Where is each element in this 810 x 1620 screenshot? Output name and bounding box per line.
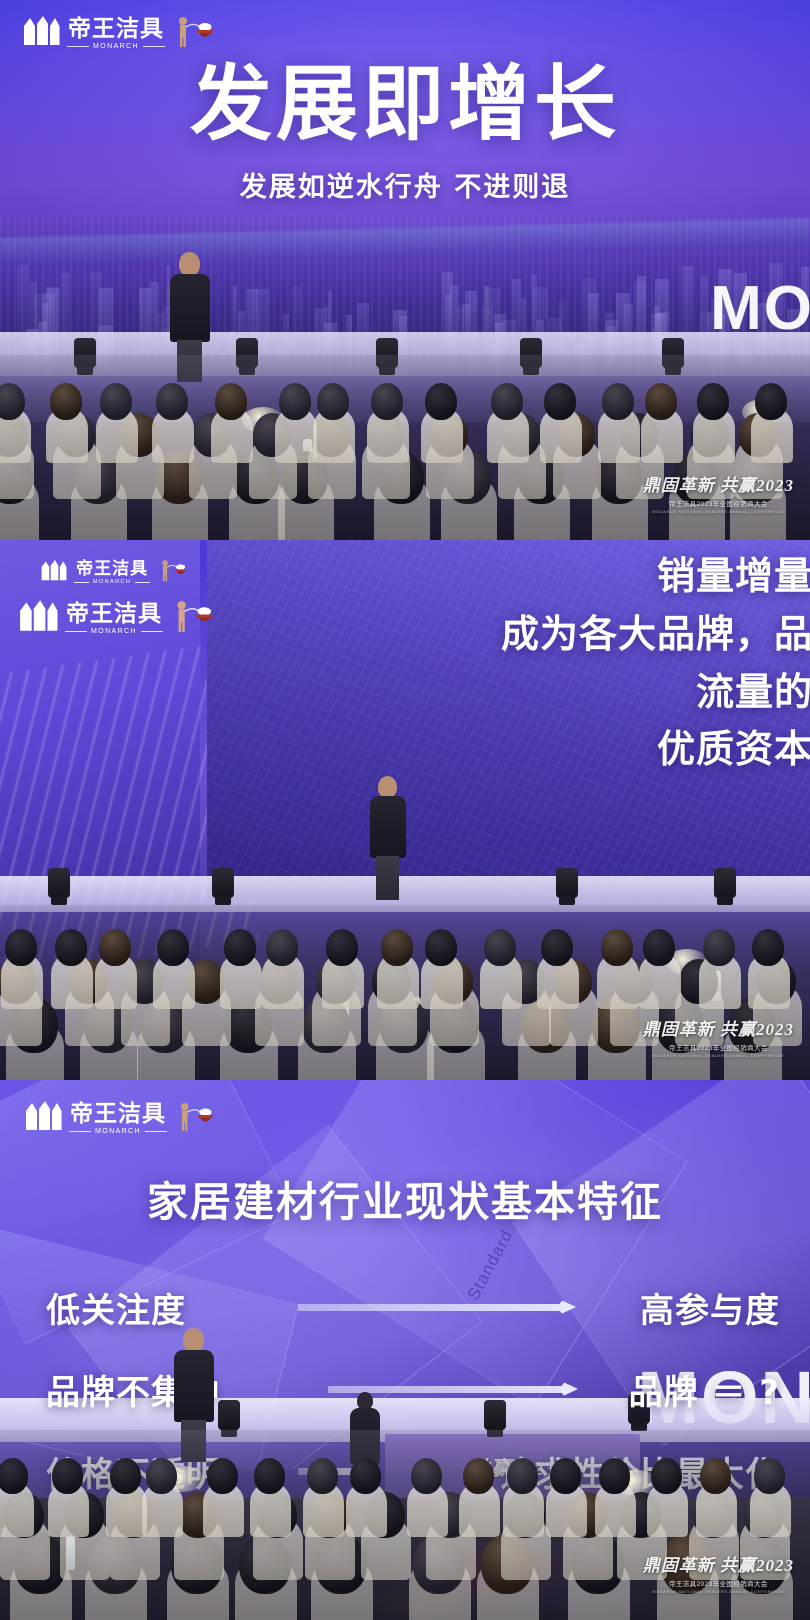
arrow-right-icon (298, 1382, 578, 1396)
arrow-head (561, 1381, 578, 1397)
audience-member (156, 383, 188, 420)
brand-en-row: MONARCH (65, 628, 163, 635)
brand-logo-secondary: 帝王洁具 MONARCH (40, 558, 190, 587)
speaker-figure (368, 776, 408, 900)
panel-keynote-sales-volume-growth: 销量增量的 成为各大品牌，品牌 流量的核 优质资本财 帝王洁具 MONARCH (0, 540, 810, 1080)
brand-name-cn: 帝王洁具 (76, 560, 148, 577)
audience-member (146, 1458, 177, 1494)
stage-light (212, 868, 234, 898)
divider-right (145, 1131, 167, 1132)
audience-member (279, 383, 311, 420)
audience-member (0, 1458, 28, 1494)
audience-member (50, 383, 82, 420)
audience-member (317, 383, 349, 420)
comparison-row: 低关注度 高参与度 (46, 1266, 780, 1348)
divider-left (65, 631, 87, 632)
slide-line: 优质资本财 (501, 721, 810, 779)
audience-member (754, 1458, 785, 1494)
brand-name-en: MONARCH (93, 43, 139, 50)
audience-member (484, 929, 516, 966)
row-to-label: 品牌 ＝ ? (592, 1365, 780, 1414)
arrow-shaft (298, 1304, 560, 1311)
divider-right (135, 582, 150, 583)
brand-en-row: MONARCH (74, 580, 150, 586)
brand-logo: 帝王洁具 MONARCH (24, 1100, 218, 1137)
divider-right (143, 46, 165, 47)
audience-member (645, 383, 677, 420)
slide-subtitle: 发展如逆水行舟 不进则退 (0, 165, 810, 204)
row-to-label: 高参与度 (592, 1283, 780, 1332)
audience-member (411, 1458, 442, 1494)
speaker-legs (376, 856, 399, 900)
photo-collage: 发展即增长 发展如逆水行舟 不进则退 帝王洁具 MONARCH (0, 0, 810, 1620)
audience-member (371, 383, 403, 420)
slide-copy-block: 销量增量的 成为各大品牌，品牌 流量的核 优质资本财 (501, 548, 810, 779)
audience-member (507, 1458, 538, 1494)
audience-member (52, 1458, 83, 1494)
audience-member (599, 1458, 630, 1494)
audience-rows (0, 1430, 810, 1620)
slide-title: 家居建材行业现状基本特征 (0, 1168, 810, 1228)
child-and-toilet-illustration-icon (172, 14, 218, 53)
audience-member (254, 1458, 285, 1494)
audience-member (425, 383, 457, 420)
panel-keynote-industry-characteristics: Standard 帝王洁具 MONARCH (0, 1080, 810, 1620)
audience-member (110, 1458, 141, 1494)
audience-member (224, 929, 256, 966)
audience-member (55, 929, 87, 966)
slide-headline-block: 发展即增长 发展如逆水行舟 不进则退 (0, 62, 810, 204)
audience-member (307, 1458, 338, 1494)
speaker-torso (174, 1350, 214, 1422)
audience-member (491, 383, 523, 420)
audience-member (550, 1458, 581, 1494)
child-and-toilet-illustration-icon (170, 598, 218, 638)
brand-name-en: MONARCH (95, 1128, 141, 1135)
speaker-head (183, 1328, 204, 1352)
audience-member (651, 1458, 682, 1494)
speaker-head (179, 252, 200, 276)
comparison-row: 品牌不集中 品牌 ＝ ? (46, 1348, 780, 1430)
arrow-head (559, 1299, 576, 1315)
audience-member (602, 383, 634, 420)
slide-line: 流量的核 (501, 664, 810, 722)
divider-right (141, 631, 163, 632)
child-and-toilet-illustration-icon (157, 558, 190, 587)
brand-en-row: MONARCH (69, 1128, 167, 1135)
audience-member (350, 1458, 381, 1494)
brand-name-cn: 帝王洁具 (68, 17, 164, 40)
row-from-label: 品牌不集中 (46, 1365, 284, 1414)
brand-text: 帝王洁具 MONARCH (69, 1102, 167, 1135)
speaker-head (378, 776, 397, 798)
brand-text: 帝王洁具 MONARCH (65, 602, 163, 635)
audience-member (100, 383, 132, 420)
audience-member (601, 929, 633, 966)
audience-member (697, 383, 729, 420)
audience-member (700, 1458, 731, 1494)
brand-text: 帝王洁具 MONARCH (67, 17, 165, 50)
stage-light (48, 868, 70, 898)
brand-name-en: MONARCH (91, 628, 137, 635)
slide-title: 发展即增长 (0, 62, 810, 147)
stage-letters: MO (710, 273, 810, 344)
audience-member (463, 1458, 494, 1494)
monarch-crown-icon (40, 560, 67, 586)
audience-member (541, 929, 573, 966)
slide-line: 成为各大品牌，品牌 (501, 606, 810, 664)
brand-en-row: MONARCH (67, 43, 165, 50)
panel-keynote-development-equals-growth: 发展即增长 发展如逆水行舟 不进则退 帝王洁具 MONARCH (0, 0, 810, 540)
divider-left (69, 1131, 91, 1132)
audience-member (703, 929, 735, 966)
audience-rows (0, 355, 810, 540)
audience-member (266, 929, 298, 966)
audience-member (752, 929, 784, 966)
audience-member (5, 929, 37, 966)
slide-line: 销量增量的 (501, 548, 810, 606)
brand-logo: 帝王洁具 MONARCH (22, 14, 218, 53)
audience-member (99, 929, 131, 966)
stage-light (714, 868, 736, 898)
row-from-label: 低关注度 (46, 1283, 284, 1332)
brand-name-cn: 帝王洁具 (66, 602, 162, 625)
monarch-crown-icon (22, 16, 60, 51)
brand-name-cn: 帝王洁具 (70, 1102, 166, 1125)
audience-member (643, 929, 675, 966)
audience-member (381, 929, 413, 966)
audience-rows (0, 905, 810, 1080)
audience-member (425, 929, 457, 966)
arrow-right-icon (298, 1300, 576, 1314)
brand-logo: 帝王洁具 MONARCH (18, 598, 218, 638)
brand-name-en: MONARCH (93, 580, 131, 586)
stage-light (556, 868, 578, 898)
divider-left (67, 46, 89, 47)
monarch-crown-icon (18, 600, 58, 637)
monarch-crown-icon (24, 1101, 62, 1136)
audience-member (326, 929, 358, 966)
audience-member (157, 929, 189, 966)
audience-member (215, 383, 247, 420)
child-and-toilet-illustration-icon (174, 1100, 218, 1137)
divider-left (74, 582, 89, 583)
brand-text: 帝王洁具 MONARCH (74, 560, 150, 586)
speaker-torso (170, 274, 210, 342)
audience-member (544, 383, 576, 420)
audience-member (755, 383, 787, 420)
speaker-torso (370, 796, 406, 858)
audience-member (207, 1458, 238, 1494)
